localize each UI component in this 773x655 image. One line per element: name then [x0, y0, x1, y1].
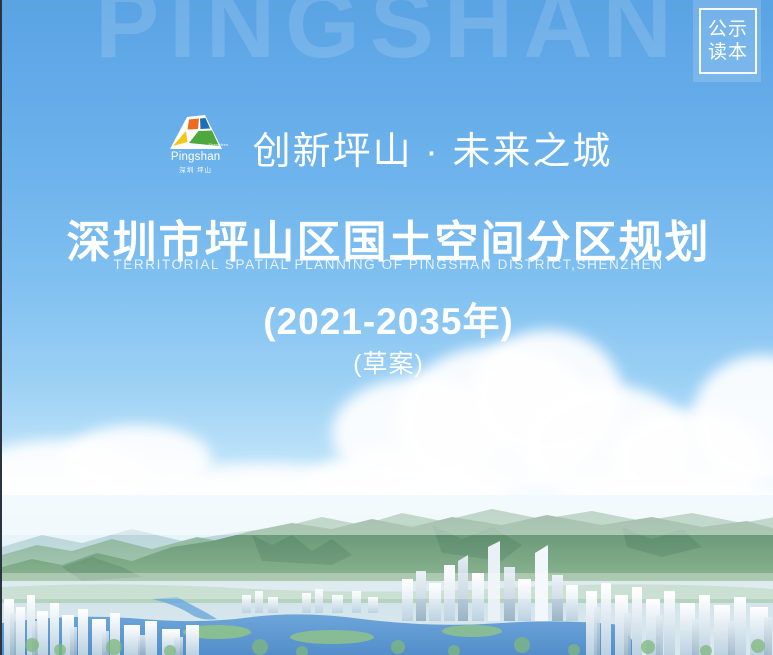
cityscape-svg: [2, 495, 773, 655]
logo-sub-latin: Shenzhen: [208, 142, 228, 147]
logo-name-cn: 深圳 坪山: [179, 164, 212, 174]
background-watermark-text: PINGSHAN: [2, 0, 773, 80]
document-status-label: (草案): [2, 344, 773, 380]
cityscape-illustration: [2, 495, 773, 655]
badge-line-1: 公示: [708, 19, 748, 41]
brand-slogan: 创新坪山 · 未来之城: [253, 120, 613, 175]
logo-name-latin: Pingshan: [171, 151, 221, 163]
brand-slogan-row: Shenzhen Pingshan 深圳 坪山 创新坪山 · 未来之城: [2, 112, 773, 182]
pingshan-logo: Shenzhen Pingshan 深圳 坪山: [165, 112, 227, 182]
badge-line-2: 读本: [708, 42, 748, 64]
poster-cover: PINGSHAN 公示 读本 She: [0, 0, 773, 655]
page-title-english: TERRITORIAL SPATIAL PLANNING OF PINGSHAN…: [2, 257, 773, 272]
public-notice-badge: 公示 读本: [693, 0, 761, 82]
public-notice-badge-box: 公示 读本: [699, 8, 757, 74]
planning-period: (2021-2035年): [2, 291, 773, 345]
